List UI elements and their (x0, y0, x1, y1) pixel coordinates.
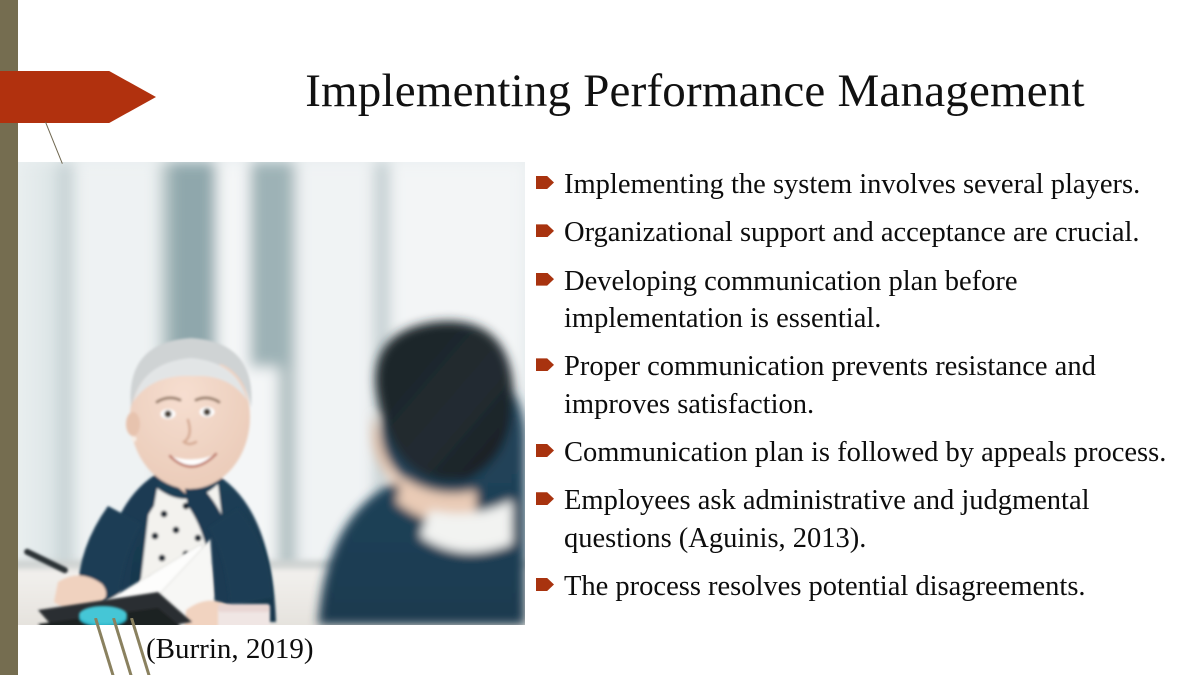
bullet-text: Organizational support and acceptance ar… (564, 214, 1184, 251)
arrow-bullet-icon (536, 444, 554, 457)
diagonal-connector-line (45, 122, 63, 164)
arrow-bullet-icon (536, 492, 554, 505)
bullet-item: The process resolves potential disagreem… (536, 568, 1184, 605)
arrow-bullet-icon (536, 224, 554, 237)
bullet-text: Implementing the system involves several… (564, 166, 1184, 203)
bullet-text: Proper communication prevents resistance… (564, 348, 1184, 423)
arrow-bullet-icon (536, 578, 554, 591)
bullet-item: Developing communication plan before imp… (536, 263, 1184, 338)
bullet-text: Employees ask administrative and judgmen… (564, 482, 1184, 557)
slide-title: Implementing Performance Management (200, 66, 1190, 118)
bullet-item: Communication plan is followed by appeal… (536, 434, 1184, 471)
bullet-item: Organizational support and acceptance ar… (536, 214, 1184, 251)
arrow-bullet-icon (536, 358, 554, 371)
bullet-text: The process resolves potential disagreem… (564, 568, 1184, 605)
bullet-text: Developing communication plan before imp… (564, 263, 1184, 338)
bullet-item: Proper communication prevents resistance… (536, 348, 1184, 423)
arrow-bullet-icon (536, 176, 554, 189)
presentation-slide: Implementing Performance Management (Bur… (0, 0, 1200, 675)
arrow-bullet-icon (536, 273, 554, 286)
bullet-item: Implementing the system involves several… (536, 166, 1184, 203)
red-arrow-banner (0, 71, 156, 123)
photo-citation: (Burrin, 2019) (146, 633, 314, 666)
bullet-text: Communication plan is followed by appeal… (564, 434, 1184, 471)
bullet-item: Employees ask administrative and judgmen… (536, 482, 1184, 557)
bullet-list: Implementing the system involves several… (536, 166, 1184, 616)
meeting-photo (0, 162, 525, 625)
